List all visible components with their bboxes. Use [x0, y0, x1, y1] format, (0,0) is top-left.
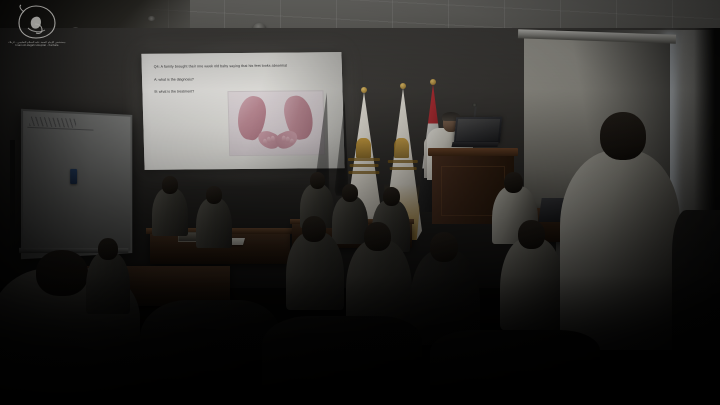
logo-svg [14, 4, 60, 40]
whiteboard-underline [27, 127, 93, 131]
laptop-base [451, 142, 498, 147]
watermark-english: Imam Al-Hujjah Hospital - Karbala [6, 44, 68, 47]
attendee-head [206, 186, 222, 204]
whiteboard [21, 109, 132, 259]
attendee-body [86, 252, 130, 314]
flag-emblem-text [348, 171, 379, 174]
flag-emblem-icon [356, 138, 371, 158]
foreground-attendee-head [600, 112, 646, 160]
foreground-attendee-head [36, 250, 88, 296]
attendee-body [332, 196, 368, 244]
attendee-body [286, 232, 344, 310]
attendee-body [500, 238, 564, 330]
ceiling-speaker-icon [148, 16, 155, 21]
foreground-attendee-body [262, 316, 422, 405]
flag-emblem-text [348, 158, 380, 161]
watermark-text: مستشفى الإمام الحجة عليه السلام التعليمي… [6, 41, 68, 48]
blue-marker [70, 169, 77, 184]
hospital-logo-watermark: مستشفى الإمام الحجة عليه السلام التعليمي… [6, 4, 68, 56]
flag-emblem-icon [394, 138, 409, 158]
foreground-attendee-body [560, 150, 680, 350]
whiteboard-stand [10, 140, 15, 260]
lecture-hall-photo: Q4: A family brought their one week old … [0, 0, 720, 405]
attendee-head [302, 216, 326, 242]
attendee-head [162, 176, 178, 194]
podium-top [428, 148, 518, 156]
flag-emblem-text [390, 167, 417, 170]
microphone-head-icon [472, 103, 477, 107]
attendee-body [196, 198, 232, 248]
attendee-head [364, 222, 391, 251]
foreground-attendee-body [672, 210, 720, 350]
attendee-body [346, 240, 412, 328]
attendee-head [342, 184, 358, 202]
attendee-head [430, 232, 458, 262]
foreground-attendee-body [140, 300, 280, 405]
laptop-screen [456, 119, 500, 141]
attendee-head [518, 220, 545, 249]
flag-emblem-text [388, 160, 418, 163]
attendee-head [504, 172, 523, 193]
hospital-logo-icon [14, 4, 60, 40]
attendee-body [152, 188, 188, 236]
attendee-head [310, 172, 325, 189]
screen-falloff [141, 52, 344, 170]
whiteboard-writing [29, 117, 76, 128]
attendee-head [383, 187, 400, 206]
foreground-attendee-body [430, 330, 600, 405]
flag-emblem-text [350, 164, 379, 167]
attendee-head [98, 238, 118, 260]
